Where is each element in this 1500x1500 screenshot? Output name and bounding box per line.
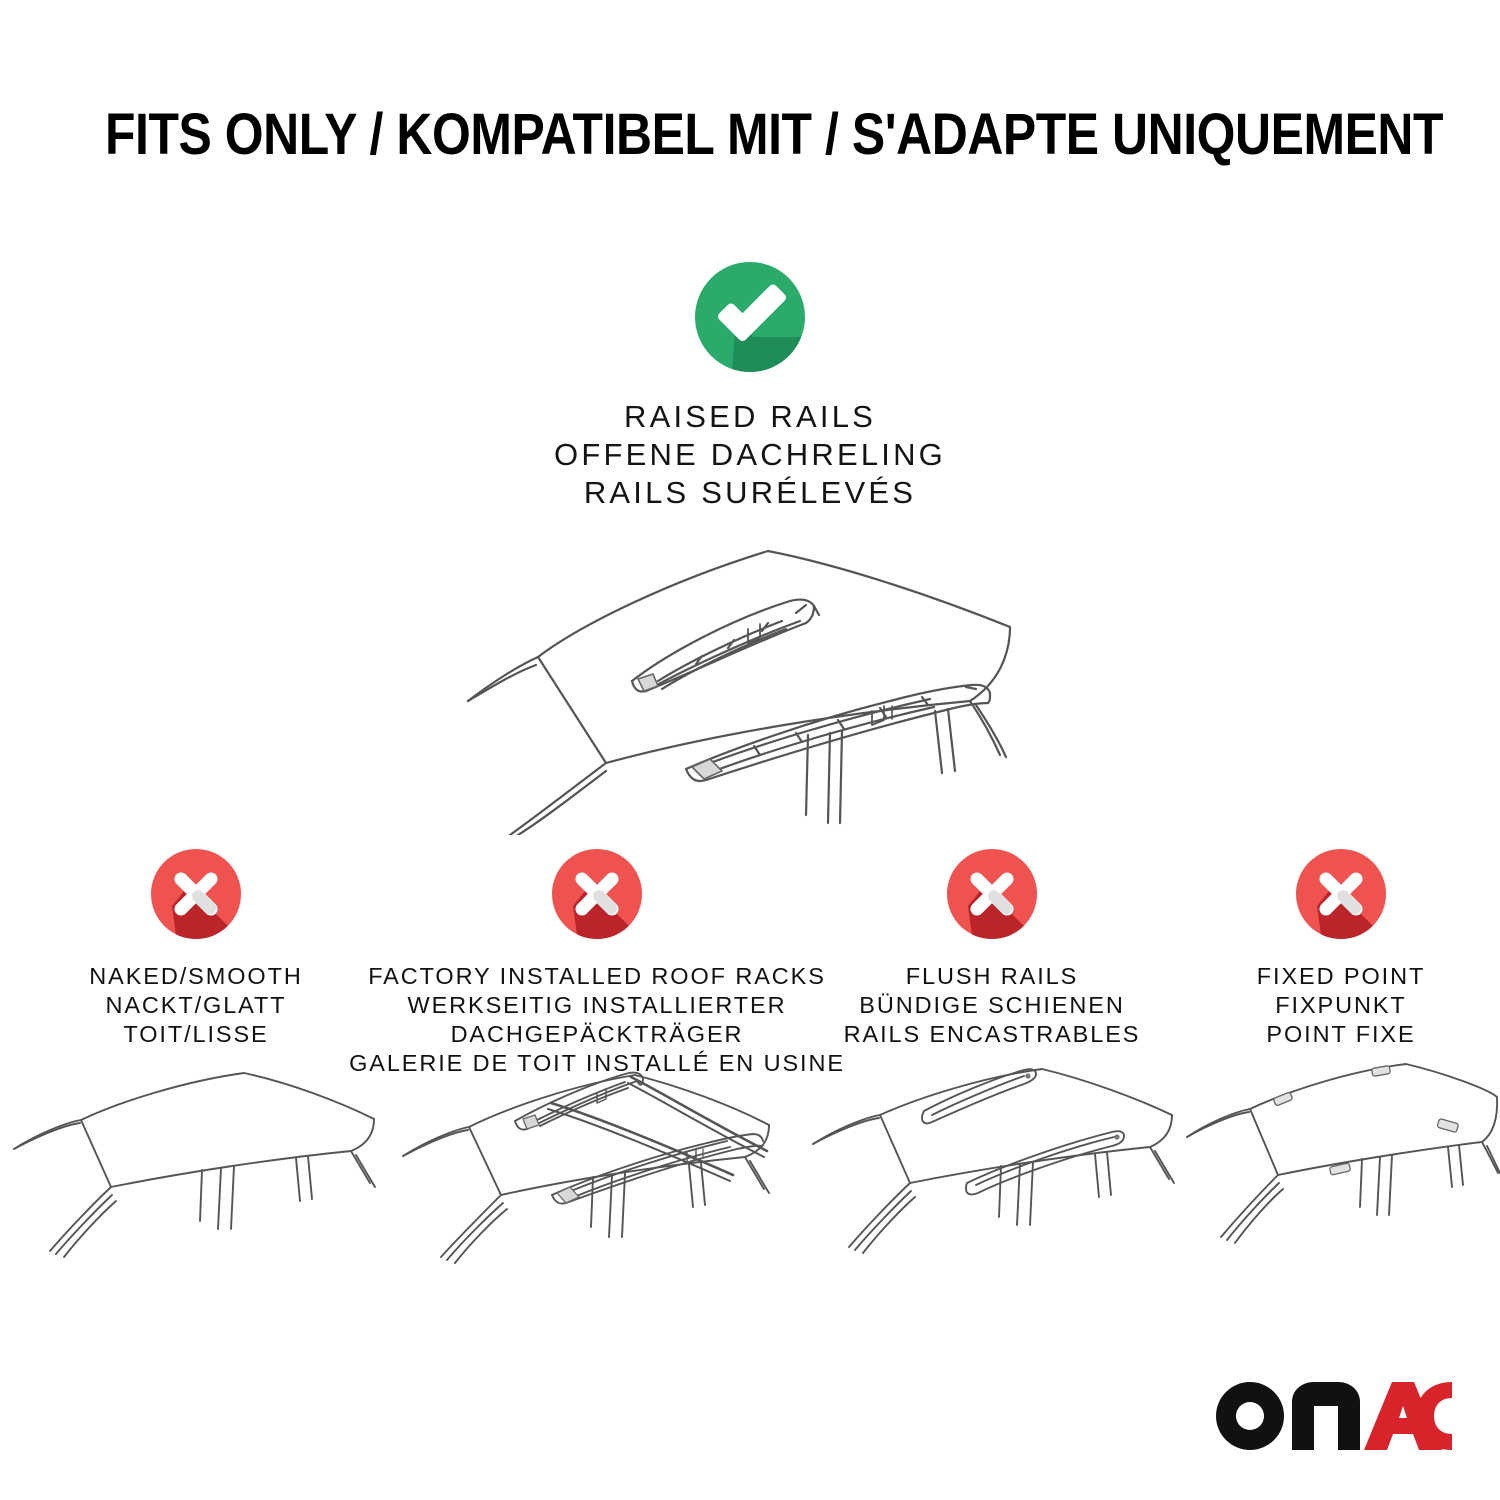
car-roof-raised-rails-illustration xyxy=(0,505,1500,835)
incompatible-item-factory-racks: FACTORY INSTALLED ROOF RACKS WERKSEITIG … xyxy=(392,846,802,1078)
check-badge-wrap xyxy=(0,258,1500,376)
car-roof-fixed-point-illustration xyxy=(1182,1055,1500,1295)
incompatible-label-de: NACKT/GLATT xyxy=(89,991,302,1020)
page-header: FITS ONLY / KOMPATIBEL MIT / S'ADAPTE UN… xyxy=(0,104,1500,166)
incompatible-label-en: NAKED/SMOOTH xyxy=(89,962,302,991)
incompatible-labels: FIXED POINT FIXPUNKT POINT FIXE xyxy=(1257,962,1425,1049)
incompatible-labels: FLUSH RAILS BÜNDIGE SCHIENEN RAILS ENCAS… xyxy=(844,962,1141,1049)
incompatible-label-fr: TOIT/LISSE xyxy=(89,1020,302,1049)
incompatible-illustrations-row xyxy=(0,1055,1500,1295)
incompatible-label-de-2: DACHGEPÄCKTRÄGER xyxy=(349,1020,845,1049)
compatible-section: RAISED RAILS OFFENE DACHRELING RAILS SUR… xyxy=(0,258,1500,512)
incompatible-item-fixed-point: FIXED POINT FIXPUNKT POINT FIXE xyxy=(1182,846,1500,1078)
check-circle-icon xyxy=(691,258,809,376)
omac-logo: OMAC xyxy=(1214,1376,1452,1452)
incompatible-section: NAKED/SMOOTH NACKT/GLATT TOIT/LISSE FACT… xyxy=(0,846,1500,1078)
incompatible-label-en: FLUSH RAILS xyxy=(844,962,1141,991)
incompatible-item-flush-rails: FLUSH RAILS BÜNDIGE SCHIENEN RAILS ENCAS… xyxy=(802,846,1182,1078)
omac-logo-mark xyxy=(1214,1376,1452,1452)
incompatible-label-en: FIXED POINT xyxy=(1257,962,1425,991)
compatible-labels: RAISED RAILS OFFENE DACHRELING RAILS SUR… xyxy=(0,398,1500,512)
page-title: FITS ONLY / KOMPATIBEL MIT / S'ADAPTE UN… xyxy=(105,104,1395,166)
incompatible-label-fr: POINT FIXE xyxy=(1257,1020,1425,1049)
incompatible-label-en: FACTORY INSTALLED ROOF RACKS xyxy=(349,962,845,991)
incompatible-item-naked-smooth: NAKED/SMOOTH NACKT/GLATT TOIT/LISSE xyxy=(0,846,392,1078)
incompatible-label-fr: RAILS ENCASTRABLES xyxy=(844,1020,1141,1049)
cross-circle-icon xyxy=(1293,846,1389,942)
cross-circle-icon xyxy=(148,846,244,942)
incompatible-label-de-1: WERKSEITIG INSTALLIERTER xyxy=(349,991,845,1020)
cross-circle-icon xyxy=(549,846,645,942)
cross-circle-icon xyxy=(944,846,1040,942)
car-roof-flush-rails-illustration xyxy=(802,1055,1182,1295)
incompatible-labels: NAKED/SMOOTH NACKT/GLATT TOIT/LISSE xyxy=(89,962,302,1049)
car-roof-naked-illustration xyxy=(0,1055,392,1295)
compatible-label-en: RAISED RAILS xyxy=(0,398,1500,436)
incompatible-label-de: BÜNDIGE SCHIENEN xyxy=(844,991,1141,1020)
incompatible-label-de: FIXPUNKT xyxy=(1257,991,1425,1020)
car-roof-factory-racks-illustration xyxy=(392,1055,802,1295)
compatible-label-de: OFFENE DACHRELING xyxy=(0,436,1500,474)
